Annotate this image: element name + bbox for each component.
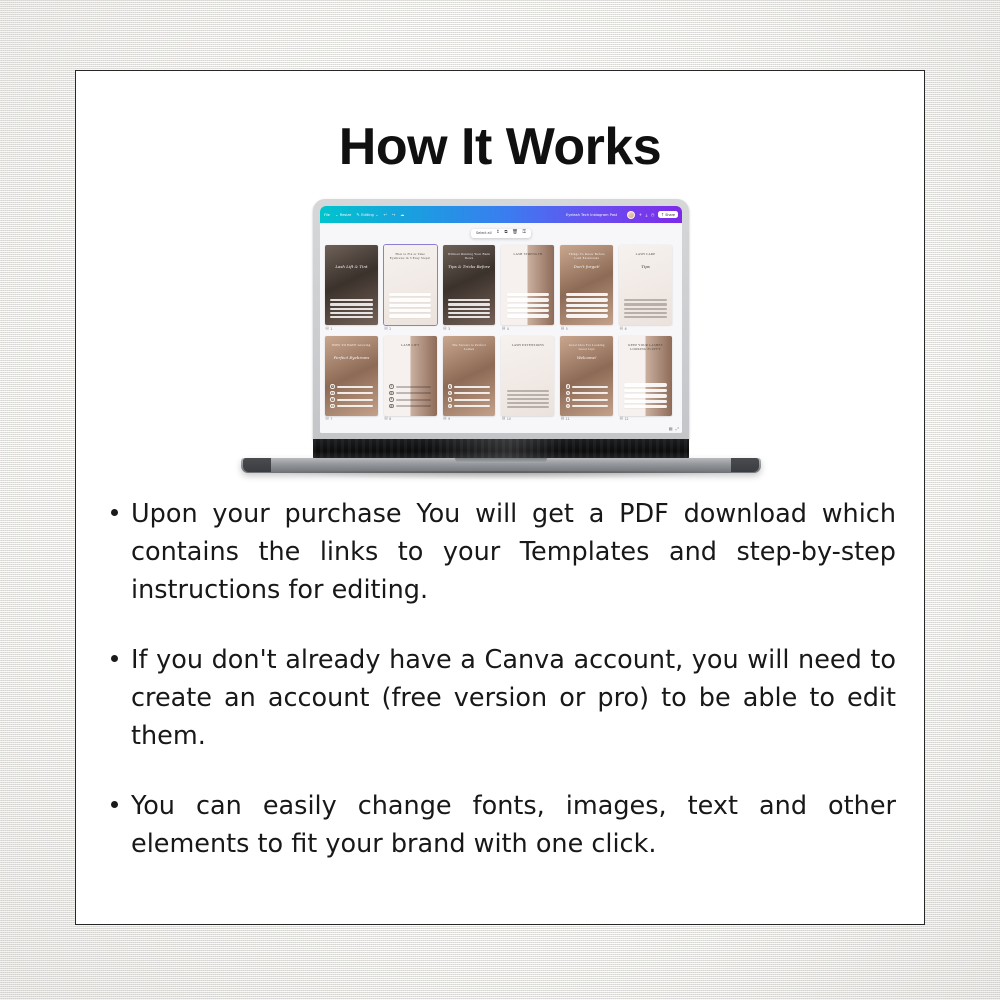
screen-controls: ▦ ⤢ [669,426,679,431]
thumbnail-meta: ▤8 [384,417,437,421]
thumbnail-script-text: Lash Lift & Tint [330,264,372,269]
page-icon: ▤ [502,417,505,421]
page-number: 6 [625,327,627,331]
thumbnail-title: KEEP YOUR LASHES LOOKING FLUFFY [623,343,667,351]
thumbnail-step-number: 2 [566,391,571,396]
thumbnail-line [507,406,549,408]
thumbnail-step-number: 2 [330,391,335,396]
page-thumbnail[interactable]: The Secrets to Perfect Lashes1234 [443,336,496,416]
page-icon: ▤ [384,417,387,421]
thumbnail-artwork: Without Ruining Your Bank DownTips & Tri… [443,245,496,325]
page-number: 4 [507,327,509,331]
thumbnail-content-lines: 1234 [448,384,490,408]
thumbnail-pill [507,293,549,296]
page-icon: ▤ [561,327,564,331]
page-thumbnail[interactable]: How to Fix or Take Eyebrows in 3 Easy St… [384,245,437,325]
thumbnail-artwork: LASH CARETips [619,245,672,325]
canva-topbar: File ⌄ Resize ✎ Editing ⌄ ↩ ↪ ☁ Eyelash … [320,206,682,223]
thumbnail-script-text: Tips [624,264,666,269]
thumbnail-artwork: Lash Lift & Tint [325,245,378,325]
page-number: 10 [507,417,511,421]
share-icon: ↑ [661,213,664,217]
thumbnail-content-lines [507,293,549,318]
thumbnail-meta: ▤11 [560,417,613,421]
bullet-marker-icon [111,655,118,662]
laptop-screen: File ⌄ Resize ✎ Editing ⌄ ↩ ↪ ☁ Eyelash … [320,206,682,433]
page-icon: ▤ [326,417,329,421]
thumbnail-line [507,394,549,396]
thumbnail-content-lines: 1234 [389,384,431,408]
page-icon: ▤ [443,417,446,421]
thumbnail-pill [566,298,608,301]
thumbnail-script-text: Perfect Eyebrows [330,355,372,360]
laptop-base-lip [455,458,547,463]
menu-editing[interactable]: ✎ Editing ⌄ [356,213,378,217]
thumbnail-title: Things To Know Before Lash Extensions [565,252,609,260]
thumbnail-content-lines [566,293,608,318]
thumbnail-cell: The Secrets to Perfect Lashes1234▤9 [443,336,496,422]
select-all-toolbar: Select all ↥ ⧉ 🗑 ⚿ [471,229,531,238]
thumbnail-cell: Without Ruining Your Bank DownTips & Tri… [443,245,496,331]
thumbnail-meta: ▤2 [384,327,437,331]
thumbnail-meta: ▤10 [501,417,554,421]
page-thumbnail[interactable]: Things To Know Before Lash ExtensionsDon… [560,245,613,325]
thumbnail-step-number: 3 [566,397,571,402]
thumbnail-line [337,399,373,401]
thumbnail-meta: ▤1 [325,327,378,331]
thumbnail-meta: ▤4 [501,327,554,331]
laptop-foot-left [243,458,271,472]
thumbnail-pill [389,309,431,312]
thumbnail-line [572,399,608,401]
thumbnail-line [396,399,432,401]
thumbnail-title: LASH CARE [623,252,667,256]
cloud-save-icon[interactable]: ☁ [400,213,404,217]
lock-icon[interactable]: ⚿ [522,231,526,236]
thumbnail-cell: Lash Lift & Tint▤1 [325,245,378,331]
page-thumbnail[interactable]: Great Idea For Looking Great LipsWelcome… [560,336,613,416]
thumbnail-line [507,402,549,404]
page-thumbnail[interactable]: HOW TO HAVE GlowingPerfect Eyebrows1234 [325,336,378,416]
delete-icon[interactable]: 🗑 [512,231,518,236]
thumbnail-pill [507,309,549,312]
thumbnail-pill [624,394,666,397]
thumbnail-cell: Great Idea For Looking Great LipsWelcome… [560,336,613,422]
thumbnail-content-lines: 1234 [330,384,372,408]
page-number: 2 [389,327,391,331]
pencil-icon: ✎ [356,213,359,217]
thumbnail-line [448,308,490,310]
menu-resize[interactable]: ⌄ Resize [335,213,351,217]
thumbnail-line [454,386,490,388]
thumbnail-step-number: 2 [448,391,453,396]
thumbnail-line [624,299,666,301]
thumbnail-step-number: 3 [330,397,335,402]
laptop-foot-right [731,458,759,472]
page-number: 5 [566,327,568,331]
bullet-marker-icon [111,509,118,516]
thumbnail-pill [624,400,666,403]
laptop-shadow [271,471,731,480]
avatar[interactable] [627,211,635,219]
undo-icon[interactable]: ↩ [384,213,387,217]
thumbnail-line [330,316,372,318]
thumbnail-cell: KEEP YOUR LASHES LOOKING FLUFFY▤12 [619,336,672,422]
bullet-text: You can easily change fonts, images, tex… [131,788,896,864]
menu-file[interactable]: File [324,213,330,217]
thumbnail-cell: LASH EXTENSIONS▤10 [501,336,554,422]
bullet-item: Upon your purchase You will get a PDF do… [111,496,896,610]
page-thumbnail[interactable]: LASH STRENGTH [501,245,554,325]
thumbnail-artwork: HOW TO HAVE GlowingPerfect Eyebrows1234 [325,336,378,416]
thumbnail-pill [566,314,608,317]
thumbnail-line [454,392,490,394]
select-all-label[interactable]: Select all [476,231,492,235]
thumbnail-pill [566,304,608,307]
page-number: 1 [330,327,332,331]
page-thumbnail[interactable]: Lash Lift & Tint [325,245,378,325]
thumbnail-line [337,386,373,388]
thumbnail-pill [507,298,549,301]
thumbnail-cell: How to Fix or Take Eyebrows in 3 Easy St… [384,245,437,331]
thumbnail-line [624,316,666,318]
thumbnail-title: The Secrets to Perfect Lashes [447,343,491,351]
thumbnail-line [572,386,608,388]
thumbnail-artwork: LASH EXTENSIONS [501,336,554,416]
thumbnail-line [448,303,490,305]
page-icon: ▤ [384,327,387,331]
page-thumbnail[interactable]: KEEP YOUR LASHES LOOKING FLUFFY [619,336,672,416]
page-icon: ▤ [620,417,623,421]
thumbnail-title: HOW TO HAVE Glowing [329,343,373,347]
thumbnail-content-lines [624,383,666,408]
grid-view-icon[interactable]: ▦ [669,426,673,431]
thumbnail-line [330,303,372,305]
thumbnail-title: LASH STRENGTH [506,252,550,256]
export-icon[interactable]: ↥ [496,231,500,236]
thumbnail-artwork: Great Idea For Looking Great LipsWelcome… [560,336,613,416]
thumbnail-pill [566,293,608,296]
thumbnail-meta: ▤9 [443,417,496,421]
thumbnail-meta: ▤3 [443,327,496,331]
page-number: 8 [389,417,391,421]
thumbnail-artwork: Things To Know Before Lash ExtensionsDon… [560,245,613,325]
thumbnail-title: LASH LIFT [388,343,432,347]
bullet-text: Upon your purchase You will get a PDF do… [131,496,896,610]
chevron-down-icon: ⌄ [375,213,378,217]
thumbnail-pill [566,309,608,312]
page-thumbnail[interactable]: LASH EXTENSIONS [501,336,554,416]
thumbnail-line [330,312,372,314]
thumbnail-content-lines [389,293,431,318]
thumbnail-line [624,308,666,310]
thumbnail-line [572,405,608,407]
thumbnail-pill [389,298,431,301]
page-icon: ▤ [443,327,446,331]
thumbnail-step-number: 2 [389,391,394,396]
thumbnail-pill [507,314,549,317]
thumbnail-line [396,405,432,407]
fullscreen-icon[interactable]: ⤢ [676,426,679,431]
bullet-marker-icon [111,801,118,808]
thumbnail-title: Great Idea For Looking Great Lips [565,343,609,351]
thumbnail-pill [624,405,666,408]
page-icon: ▤ [502,327,505,331]
duplicate-icon[interactable]: ⧉ [504,231,507,236]
thumbnail-line [396,386,432,388]
chevron-down-icon: ⌄ [335,213,338,217]
timer-icon[interactable]: ◷ [651,213,655,217]
canva-workspace: Select all ↥ ⧉ 🗑 ⚿ Lash Lift & Tint▤1How… [320,223,682,433]
thumbnail-pill [389,304,431,307]
thumbnail-artwork: LASH LIFT1234 [384,336,437,416]
thumbnail-content-lines: 1234 [566,384,608,408]
page-thumbnail[interactable]: LASH CARETips [619,245,672,325]
thumbnail-line [572,392,608,394]
thumbnail-cell: LASH CARETips▤6 [619,245,672,331]
thumbnail-step-number: 4 [330,404,335,409]
page-thumbnail[interactable]: LASH LIFT1234 [384,336,437,416]
thumbnail-content-lines [330,299,372,317]
thumbnail-meta: ▤7 [325,417,378,421]
thumbnail-step-number: 1 [448,384,453,389]
page-thumbnail-grid: Lash Lift & Tint▤1How to Fix or Take Eye… [325,245,672,421]
thumbnail-script-text: Don't forget! [566,264,608,269]
page-number: 12 [625,417,629,421]
thumbnail-meta: ▤5 [560,327,613,331]
thumbnail-line [624,303,666,305]
document-title[interactable]: Eyelash Tech Instagram Post [566,213,617,217]
thumbnail-step-number: 4 [389,404,394,409]
thumbnail-line [624,312,666,314]
thumbnail-artwork: The Secrets to Perfect Lashes1234 [443,336,496,416]
thumbnail-step-number: 3 [448,397,453,402]
thumbnail-content-lines [507,390,549,408]
thumbnail-title: How to Fix or Take Eyebrows in 3 Easy St… [388,252,432,260]
page-thumbnail[interactable]: Without Ruining Your Bank DownTips & Tri… [443,245,496,325]
thumbnail-line [454,399,490,401]
thumbnail-cell: LASH LIFT1234▤8 [384,336,437,422]
thumbnail-line [330,308,372,310]
thumbnail-step-number: 1 [566,384,571,389]
page-title: How It Works [76,117,924,177]
bullet-item: You can easily change fonts, images, tex… [111,788,896,864]
page-number: 7 [330,417,332,421]
thumbnail-line [507,398,549,400]
redo-icon[interactable]: ↪ [392,213,395,217]
page-icon: ▤ [620,327,623,331]
thumbnail-cell: HOW TO HAVE GlowingPerfect Eyebrows1234▤… [325,336,378,422]
thumbnail-artwork: KEEP YOUR LASHES LOOKING FLUFFY [619,336,672,416]
thumbnail-meta: ▤6 [619,327,672,331]
thumbnail-line [330,299,372,301]
thumbnail-title: Without Ruining Your Bank Down [447,252,491,260]
thumbnail-step-number: 1 [389,384,394,389]
bullet-item: If you don't already have a Canva accoun… [111,642,896,756]
thumbnail-step-number: 4 [448,404,453,409]
thumbnail-step-number: 3 [389,397,394,402]
thumbnail-pill [389,314,431,317]
page-icon: ▤ [561,417,564,421]
bullet-list: Upon your purchase You will get a PDF do… [111,496,896,864]
thumbnail-pill [507,304,549,307]
thumbnail-line [337,405,373,407]
bullet-text: If you don't already have a Canva accoun… [131,642,896,756]
thumbnail-line [448,316,490,318]
thumbnail-step-number: 1 [330,384,335,389]
download-icon[interactable]: ⤓ [646,213,648,217]
page-number: 11 [566,417,570,421]
content-card: How It Works File ⌄ Resize ✎ Editing [75,70,925,925]
laptop-lid: File ⌄ Resize ✎ Editing ⌄ ↩ ↪ ☁ Eyelash … [313,199,689,441]
thumbnail-cell: Things To Know Before Lash ExtensionsDon… [560,245,613,331]
thumbnail-cell: LASH STRENGTH▤4 [501,245,554,331]
laptop-mockup: File ⌄ Resize ✎ Editing ⌄ ↩ ↪ ☁ Eyelash … [241,199,761,544]
thumbnail-pill [624,383,666,386]
page-number: 3 [448,327,450,331]
thumbnail-line [337,392,373,394]
thumbnail-artwork: LASH STRENGTH [501,245,554,325]
thumbnail-line [396,392,432,394]
share-button[interactable]: ↑ Share [658,211,678,217]
thumbnail-line [454,405,490,407]
page-icon: ▤ [326,327,329,331]
thumbnail-pill [389,293,431,296]
page-number: 9 [448,417,450,421]
thumbnail-line [507,390,549,392]
thumbnail-artwork: How to Fix or Take Eyebrows in 3 Easy St… [384,245,437,325]
plus-icon[interactable]: + [639,213,642,217]
thumbnail-script-text: Welcome! [566,355,608,360]
thumbnail-line [448,299,490,301]
thumbnail-meta: ▤12 [619,417,672,421]
thumbnail-line [448,312,490,314]
thumbnail-step-number: 4 [566,404,571,409]
thumbnail-pill [624,389,666,392]
thumbnail-title: LASH EXTENSIONS [506,343,550,347]
thumbnail-content-lines [448,299,490,317]
thumbnail-content-lines [624,299,666,317]
thumbnail-script-text: Tips & Tricks Before [448,264,490,269]
